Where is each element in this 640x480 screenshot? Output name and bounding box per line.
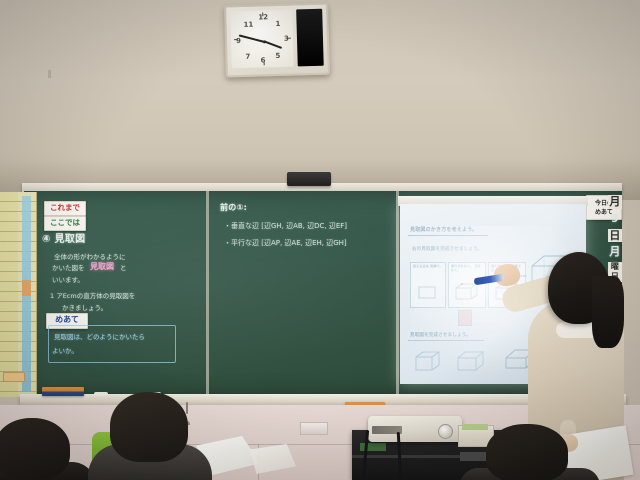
blackboard-eraser	[42, 387, 84, 396]
clock-face: 12 1 3 5 6 7 9 11	[230, 10, 294, 69]
center-heading: 前の①:	[220, 203, 247, 213]
date-char: 月	[608, 245, 622, 259]
date-char: 9	[608, 212, 622, 226]
clock-tick	[234, 39, 238, 40]
center-line: ・平行な辺 [辺AP, 辺AE, 辺EH, 辺GH]	[224, 238, 347, 248]
student-head	[110, 392, 188, 462]
student-head	[0, 418, 70, 480]
goal-line: よいか。	[52, 345, 78, 355]
clock-mount	[48, 70, 51, 78]
wall-hook	[186, 402, 188, 414]
date-column: 月 9 日 月 曜日	[608, 195, 622, 282]
classroom-photo: 12 1 3 5 6 7 9 11 これまで ここでは ④ 見取図 全体の形がわ…	[0, 0, 640, 480]
speaker-box	[287, 172, 331, 186]
wall-clock: 12 1 3 5 6 7 9 11	[224, 3, 330, 78]
goal-line: 見取図は、どのようにかいたら	[54, 331, 145, 341]
teacher-hair	[592, 276, 624, 348]
clock-numeral: 1	[275, 20, 280, 28]
clock-tick	[264, 61, 265, 65]
student-head	[486, 424, 568, 480]
card-koremade: これまで	[44, 201, 86, 216]
clock-panel	[296, 9, 324, 67]
clock-numeral: 7	[245, 53, 250, 61]
board-line: 全体の形がわかるように	[54, 251, 126, 261]
kanji-reference-poster	[0, 192, 37, 397]
wall-vent	[300, 422, 328, 435]
poster-tag	[3, 372, 25, 382]
clock-hub	[263, 40, 266, 43]
clock-hour-hand	[264, 40, 283, 48]
board-line: 1 アEcmの直方体の見取図を	[50, 290, 135, 300]
date-char: 日	[608, 229, 622, 243]
clock-numeral: 5	[275, 52, 280, 60]
card-kokodeha: ここでは	[44, 216, 86, 231]
center-line: ・垂直な辺 [辺GH, 辺AB, 辺DC, 辺EF]	[224, 221, 347, 231]
board-line: いいます。	[52, 274, 84, 284]
clock-tick	[287, 38, 291, 39]
chalk-piece	[94, 392, 108, 396]
board-line: かきましょう。	[62, 302, 107, 312]
board-heading: ④ 見取図	[42, 234, 85, 247]
clock-numeral: 11	[243, 21, 253, 29]
date-char: 月	[608, 195, 622, 209]
clock-minute-hand	[239, 35, 265, 43]
equipment-box-label	[462, 424, 488, 430]
board-seam	[206, 191, 209, 396]
board-line: と	[120, 262, 127, 272]
projector-lens	[438, 424, 453, 439]
clock-tick	[262, 12, 263, 16]
board-highlight-word: 見取図	[90, 261, 114, 272]
board-line: かいた図を	[52, 262, 85, 272]
poster-clip	[22, 280, 31, 296]
